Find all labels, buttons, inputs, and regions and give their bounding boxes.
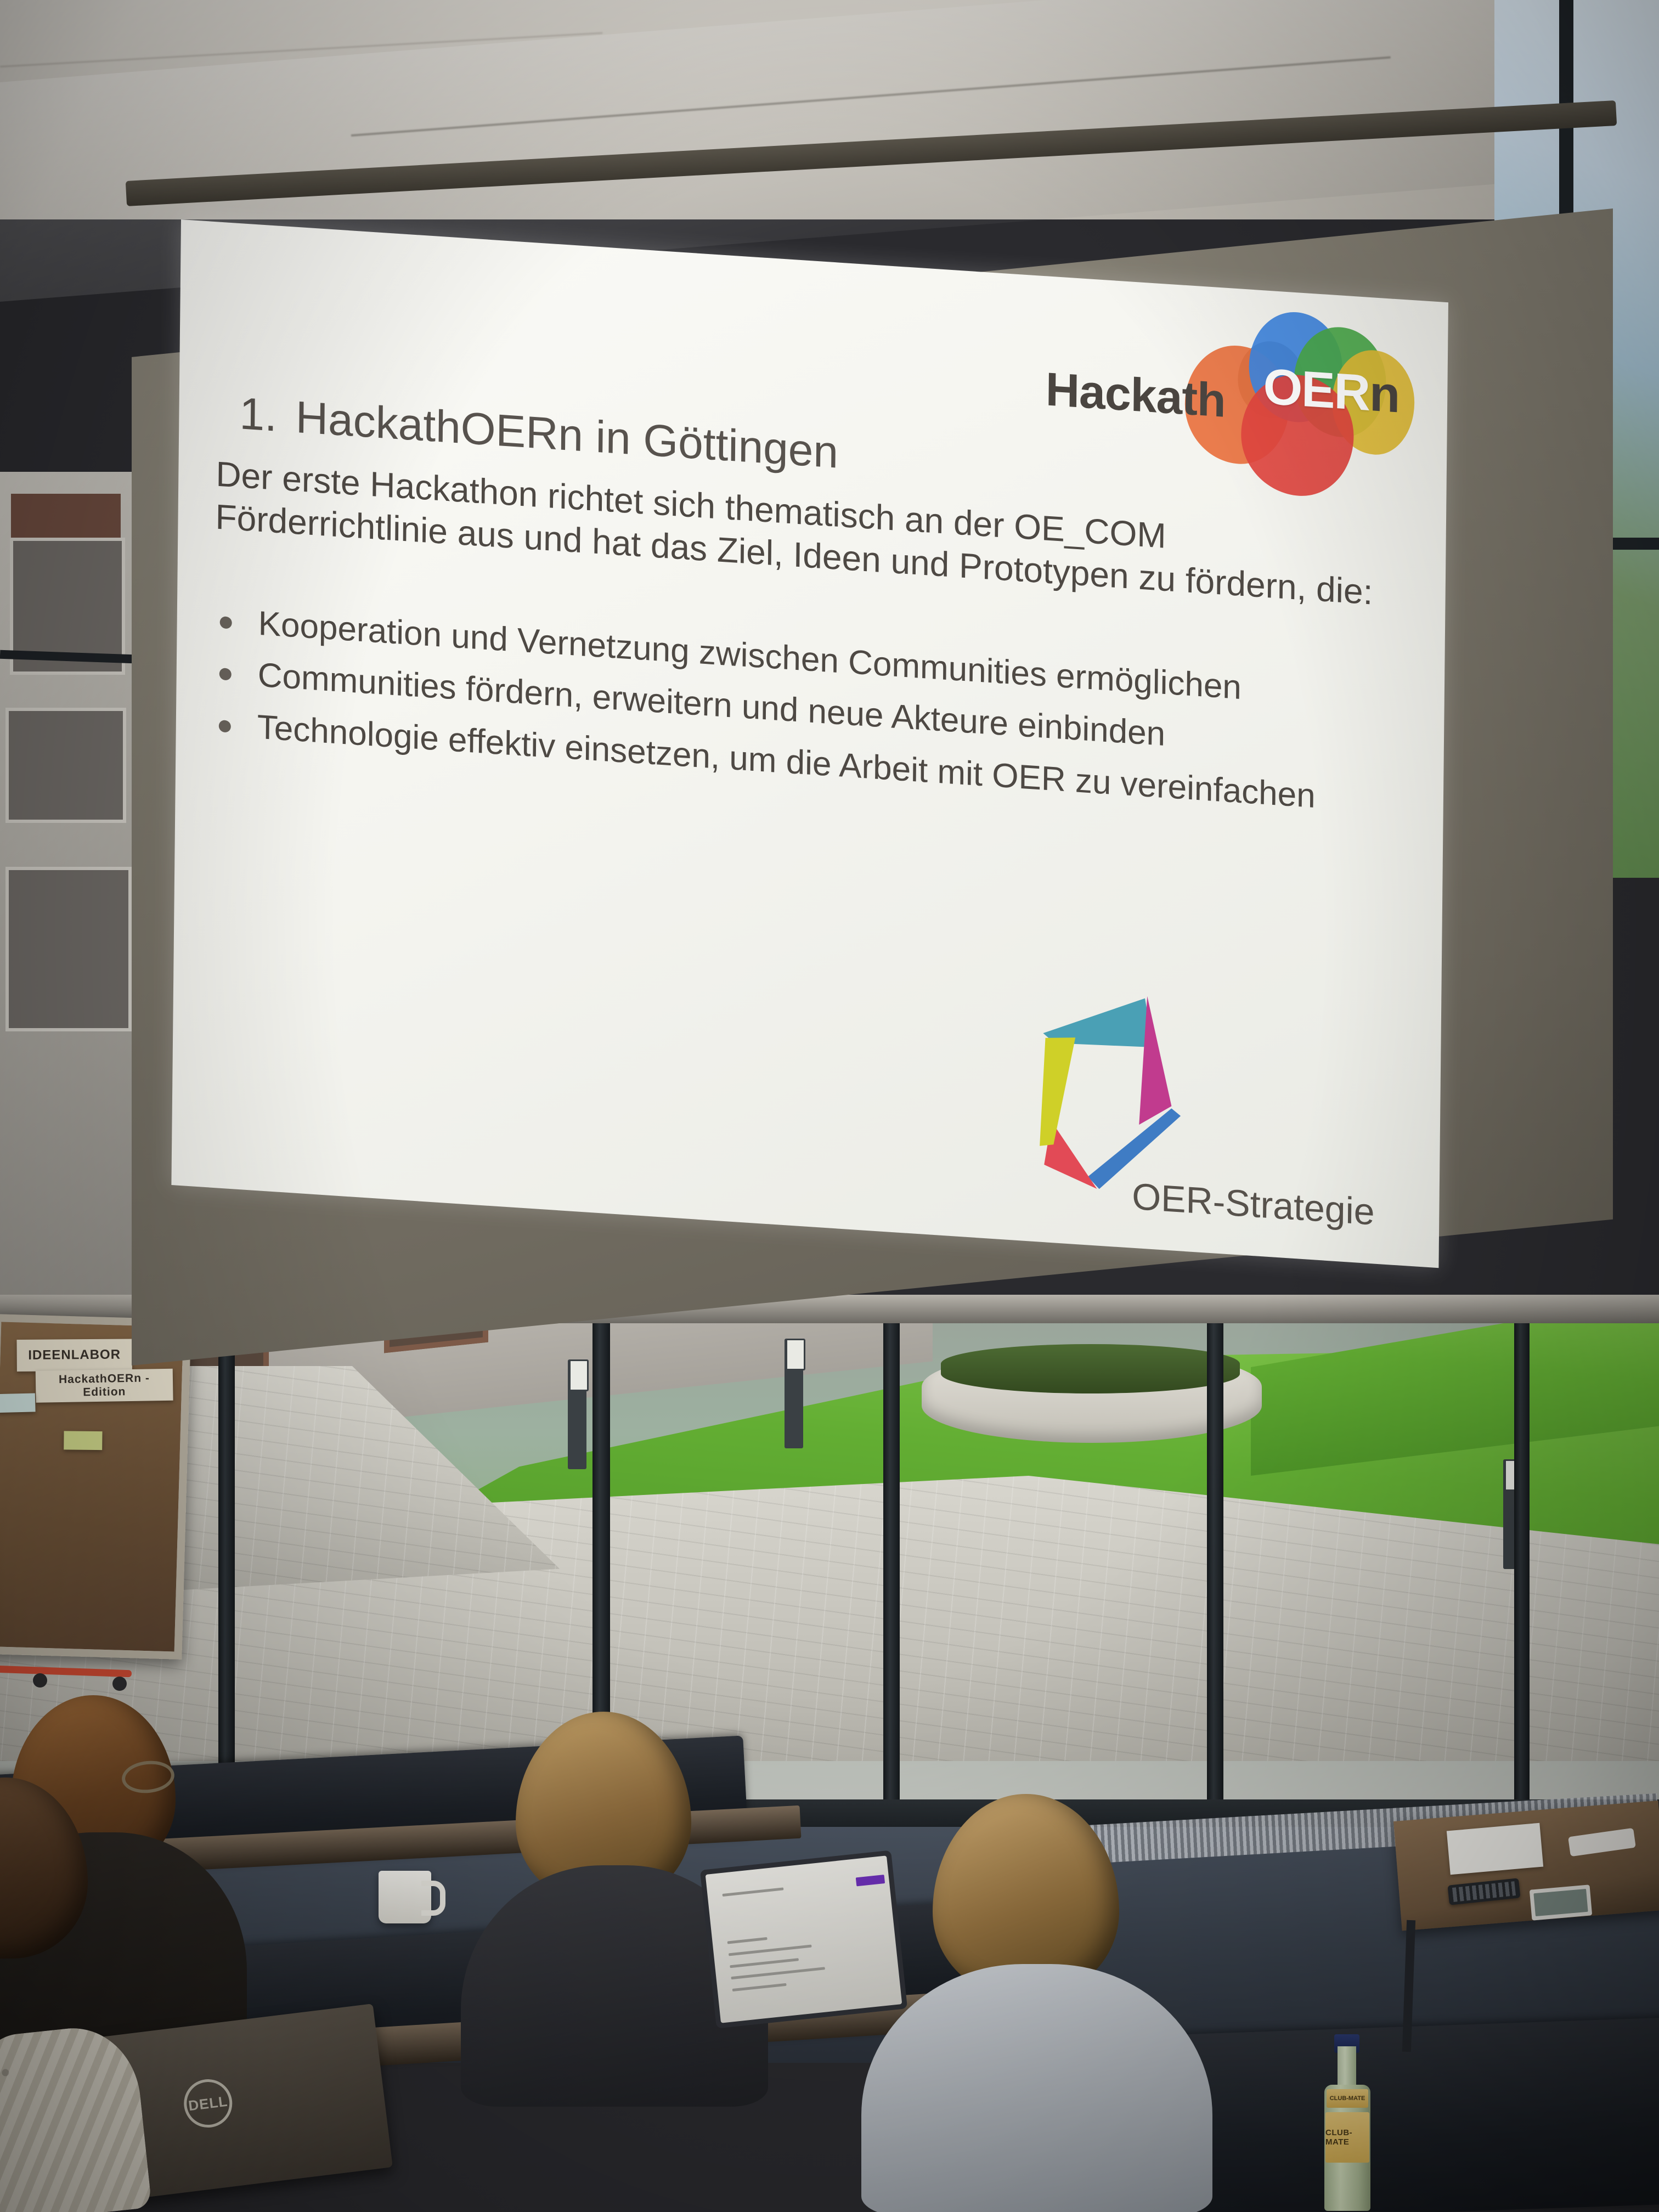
- slide-bullet-list: Kooperation und Vernetzung zwischen Comm…: [214, 601, 1412, 834]
- logo-wordmark-n: n: [1369, 365, 1400, 424]
- bollard-light: [568, 1359, 586, 1469]
- pinboard-note-edition: HackathOERn - Edition: [36, 1369, 173, 1403]
- facade-pane: [5, 708, 126, 823]
- pinboard-sticky-note: [64, 1431, 102, 1450]
- curtain-wall-mullion: [1207, 1295, 1223, 1849]
- laptop-screen-badge: [856, 1875, 885, 1886]
- laptop-screen: [706, 1855, 902, 2023]
- logo-wordmark-oer: OER: [1263, 358, 1369, 421]
- photo-stage: IDEENLABOR HackathOERn - Edition Hackath…: [0, 0, 1659, 2212]
- slide-paragraph: Der erste Hackathon richtet sich themati…: [215, 452, 1396, 615]
- desk-paper: [1447, 1823, 1543, 1875]
- bottle-neck-label: CLUB-MATE: [1327, 2089, 1368, 2108]
- control-tablet: [1530, 1884, 1592, 1920]
- audience-laptop: [700, 1850, 907, 2029]
- pinboard-sticky-note: [0, 1393, 36, 1413]
- laptop-lid: [700, 1850, 907, 2029]
- projected-slide-wrapper: Hackath OERn 1.HackathOERn in Göttingen …: [171, 219, 1448, 1268]
- bollard-light: [785, 1339, 803, 1448]
- projected-slide: Hackath OERn 1.HackathOERn in Göttingen …: [171, 219, 1448, 1268]
- facade-pane: [5, 867, 132, 1031]
- pinboard-base: [0, 1651, 176, 1690]
- logo-wordmark-hackath: Hackath: [1045, 362, 1226, 428]
- dell-logo: DELL: [181, 2076, 235, 2130]
- slide-title-number: 1.: [239, 388, 277, 441]
- club-mate-bottle: CLUB-MATE CLUB-MATE: [1322, 2030, 1373, 2211]
- oer-strategie-label: OER-Strategie: [1132, 1175, 1375, 1234]
- oer-strategie-mark: [1028, 958, 1260, 1204]
- pinboard: IDEENLABOR HackathOERn - Edition: [0, 1314, 191, 1660]
- oer-strategie-logo: OER-Strategie: [1028, 958, 1370, 1239]
- courtyard-planter-soil: [941, 1344, 1240, 1393]
- logo-wordmark-oern: OERn: [1263, 358, 1400, 424]
- pinboard-note-ideenlabor: IDEENLABOR: [16, 1339, 132, 1371]
- curtain-wall-mullion: [883, 1295, 900, 1849]
- coffee-cup: [379, 1871, 431, 1923]
- hackathoern-logo: Hackath OERn: [1045, 292, 1420, 460]
- bottle-label: CLUB-MATE: [1325, 2112, 1369, 2163]
- curtain-wall-mullion: [1514, 1295, 1530, 1849]
